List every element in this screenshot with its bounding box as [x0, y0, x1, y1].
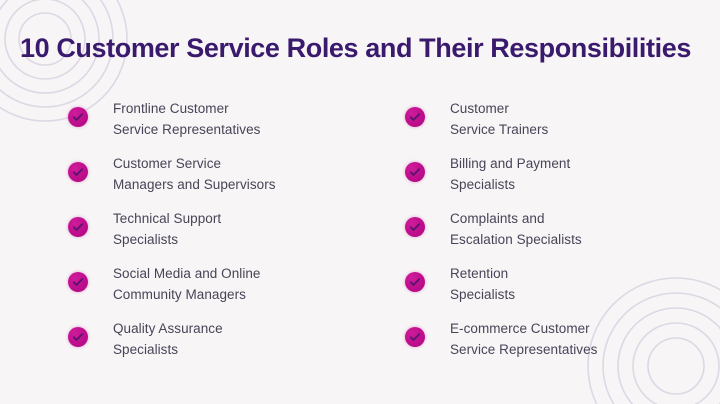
list-item-line2: Community Managers [113, 284, 368, 305]
list-item-line1: Complaints and [450, 208, 705, 229]
roles-list-right-column: Customer Service Trainers Billing and Pa… [405, 98, 705, 373]
list-item-line1: Retention [450, 263, 705, 284]
list-item-line2: Specialists [450, 284, 705, 305]
list-item-line1: E-commerce Customer [450, 318, 705, 339]
list-item[interactable]: Customer Service Managers and Supervisor… [68, 153, 368, 208]
list-item-line2: Service Representatives [113, 119, 368, 140]
check-circle-icon [68, 107, 88, 127]
list-item[interactable]: Quality Assurance Specialists [68, 318, 368, 373]
list-item-line1: Quality Assurance [113, 318, 368, 339]
check-circle-icon [405, 162, 425, 182]
check-circle-icon [68, 327, 88, 347]
check-circle-icon [68, 272, 88, 292]
list-item[interactable]: Social Media and Online Community Manage… [68, 263, 368, 318]
list-item-line2: Service Trainers [450, 119, 705, 140]
list-item-line1: Customer [450, 98, 705, 119]
check-circle-icon [405, 272, 425, 292]
check-circle-icon [405, 217, 425, 237]
list-item[interactable]: Frontline Customer Service Representativ… [68, 98, 368, 153]
page-title: 10 Customer Service Roles and Their Resp… [20, 34, 710, 64]
list-item-line1: Customer Service [113, 153, 368, 174]
list-item-line1: Social Media and Online [113, 263, 368, 284]
list-item[interactable]: Retention Specialists [405, 263, 705, 318]
list-item-line2: Specialists [450, 174, 705, 195]
check-circle-icon [405, 107, 425, 127]
list-item[interactable]: Technical Support Specialists [68, 208, 368, 263]
list-item[interactable]: Complaints and Escalation Specialists [405, 208, 705, 263]
check-circle-icon [68, 162, 88, 182]
list-item-line2: Service Representatives [450, 339, 705, 360]
check-circle-icon [405, 327, 425, 347]
list-item-line2: Specialists [113, 339, 368, 360]
list-item-line1: Frontline Customer [113, 98, 368, 119]
list-item-line2: Specialists [113, 229, 368, 250]
roles-list-left-column: Frontline Customer Service Representativ… [68, 98, 368, 373]
check-circle-icon [68, 217, 88, 237]
list-item-line2: Escalation Specialists [450, 229, 705, 250]
list-item[interactable]: Billing and Payment Specialists [405, 153, 705, 208]
list-item[interactable]: E-commerce Customer Service Representati… [405, 318, 705, 373]
list-item-line1: Billing and Payment [450, 153, 705, 174]
list-item[interactable]: Customer Service Trainers [405, 98, 705, 153]
slide-canvas: 10 Customer Service Roles and Their Resp… [0, 0, 720, 404]
list-item-line1: Technical Support [113, 208, 368, 229]
list-item-line2: Managers and Supervisors [113, 174, 368, 195]
